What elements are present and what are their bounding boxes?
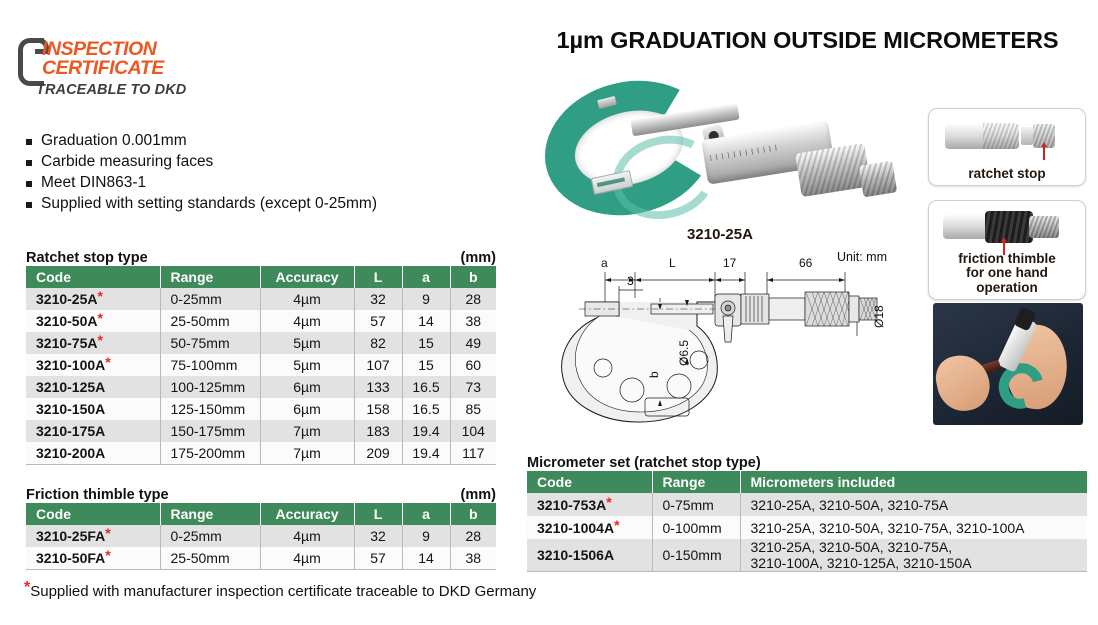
certificate-bracket-icon [18,38,44,86]
table-row: 3210-125A100-125mm6µm13316.573 [26,376,496,398]
asterisk-icon: * [98,310,103,326]
photo-one-hand-operation [933,303,1083,425]
friction-thimble-table-block: Friction thimble type (mm) CodeRangeAccu… [26,487,496,570]
cell-code: 3210-125A [26,376,160,398]
ratchet-table-unit: (mm) [461,250,496,266]
drawing-unit-label: Unit: mm [837,250,887,264]
cell-l: 183 [354,420,402,442]
cell-accuracy: 5µm [260,332,354,354]
cell-accuracy: 7µm [260,420,354,442]
table-body: 3210-25A*0-25mm4µm329283210-50A*25-50mm4… [26,288,496,464]
cell-accuracy: 4µm [260,288,354,310]
cell-range: 175-200mm [160,442,260,464]
asterisk-icon: * [105,525,110,541]
callout-friction-thimble: friction thimble for one hand operation [928,200,1086,300]
cell-range: 0-25mm [160,525,260,547]
cell-l: 57 [354,547,402,569]
dim-label-17: 17 [723,256,736,270]
micrometer-set-table: CodeRangeMicrometers included 3210-753A*… [527,471,1087,572]
cell-b: 85 [450,398,496,420]
cell-l: 107 [354,354,402,376]
cell-accuracy: 7µm [260,442,354,464]
asterisk-icon: * [105,354,110,370]
asterisk-icon: * [614,517,619,533]
dim-label-d18: Ø18 [872,305,886,328]
asterisk-icon: * [606,494,611,510]
callout-tail-cap [1029,216,1059,238]
table-body: 3210-25FA*0-25mm4µm329283210-50FA*25-50m… [26,525,496,569]
cell-b: 28 [450,525,496,547]
set-table-title: Micrometer set (ratchet stop type) [527,455,761,471]
list-item: Carbide measuring faces [26,153,456,172]
cell-b: 117 [450,442,496,464]
column-header-l: L [354,503,402,525]
callout-barrel [945,123,1019,149]
dim-label-b: b [647,371,661,378]
cell-code: 3210-175A [26,420,160,442]
cell-range: 0-100mm [652,516,740,539]
cell-a: 14 [402,310,450,332]
dim-label-66: 66 [799,256,812,270]
cell-b: 73 [450,376,496,398]
cell-b: 60 [450,354,496,376]
feature-text: Graduation 0.001mm [41,132,187,151]
ratchet-stop-table: CodeRangeAccuracyLab 3210-25A*0-25mm4µm3… [26,266,496,465]
column-header-code: Code [26,266,160,288]
column-header-l: L [354,266,402,288]
callout-knurl [983,123,1019,149]
cell-accuracy: 6µm [260,398,354,420]
cell-a: 14 [402,547,450,569]
cell-accuracy: 6µm [260,376,354,398]
column-header-range: Range [160,266,260,288]
cell-accuracy: 4µm [260,525,354,547]
list-item: Meet DIN863-1 [26,174,456,193]
table-row: 3210-25A*0-25mm4µm32928 [26,288,496,310]
table-caption: Micrometer set (ratchet stop type) [527,455,1087,471]
cell-code: 3210-753A* [527,493,652,516]
table-row: 3210-175A150-175mm7µm18319.4104 [26,420,496,442]
table-caption: Ratchet stop type (mm) [26,250,496,266]
cell-range: 125-150mm [160,398,260,420]
callout-tip [1021,127,1033,145]
square-bullet-icon [26,181,32,187]
list-item: Supplied with setting standards (except … [26,195,456,214]
cell-l: 158 [354,398,402,420]
cell-code: 3210-200A [26,442,160,464]
cell-code: 3210-25A* [26,288,160,310]
ratchet-table-title: Ratchet stop type [26,250,148,266]
table-row: 3210-200A175-200mm7µm20919.4117 [26,442,496,464]
table-header-row: CodeRangeMicrometers included [527,471,1087,493]
table-body: 3210-753A*0-75mm3210-25A, 3210-50A, 3210… [527,493,1087,572]
micrometer-scale [710,144,780,161]
cell-a: 15 [402,332,450,354]
column-header-code: Code [527,471,652,493]
cell-l: 133 [354,376,402,398]
square-bullet-icon [26,202,32,208]
cell-b: 104 [450,420,496,442]
cell-l: 32 [354,288,402,310]
callout-barrel [943,215,991,239]
drawing-svg [527,250,897,435]
technical-drawing: Unit: mm [527,250,897,435]
friction-thimble-table: CodeRangeAccuracyLab 3210-25FA*0-25mm4µm… [26,503,496,570]
feature-text: Meet DIN863-1 [41,174,146,193]
square-bullet-icon [26,160,32,166]
cell-a: 16.5 [402,398,450,420]
left-hand [933,350,994,416]
thimble-table-unit: (mm) [461,487,496,503]
cell-code: 3210-75A* [26,332,160,354]
callout-black-thimble [985,211,1033,243]
cell-range: 0-75mm [652,493,740,516]
column-header-range: Range [160,503,260,525]
cell-code: 3210-50FA* [26,547,160,569]
page-title: 1µm GRADUATION OUTSIDE MICROMETERS [520,27,1095,54]
product-photo-micrometer [536,70,926,220]
dim-label-a: a [601,256,608,270]
cell-l: 57 [354,310,402,332]
pointer-arrow-icon [1043,146,1045,160]
cell-code: 3210-50A* [26,310,160,332]
cell-a: 15 [402,354,450,376]
column-header-range: Range [652,471,740,493]
callout-ratchet-stop: ratchet stop [928,108,1086,186]
ratchet-stop-table-block: Ratchet stop type (mm) CodeRangeAccuracy… [26,250,496,465]
footnote-text: Supplied with manufacturer inspection ce… [30,583,536,600]
list-item: Graduation 0.001mm [26,132,456,151]
inspection-certificate-logo: INSPECTION CERTIFICATE TRACEABLE TO DKD [18,34,208,104]
dim-label-d65: Ø6.5 [677,340,691,366]
cell-range: 100-125mm [160,376,260,398]
cell-accuracy: 5µm [260,354,354,376]
cell-code: 3210-1506A [527,539,652,572]
cell-code: 3210-150A [26,398,160,420]
table-row: 3210-75A*50-75mm5µm821549 [26,332,496,354]
dim-label-3: 3 [627,274,634,288]
table-row: 3210-50FA*25-50mm4µm571438 [26,547,496,569]
hero-caption: 3210-25A [620,226,820,243]
cell-a: 9 [402,288,450,310]
column-header-a: a [402,266,450,288]
column-header-a: a [402,503,450,525]
ratchet-stop-photo [929,115,1085,157]
table-row: 3210-25FA*0-25mm4µm32928 [26,525,496,547]
cell-l: 32 [354,525,402,547]
square-bullet-icon [26,139,32,145]
callout-thimble-label: friction thimble for one hand operation [929,252,1085,296]
column-header-micrometers-included: Micrometers included [740,471,1087,493]
column-header-code: Code [26,503,160,525]
column-header-accuracy: Accuracy [260,503,354,525]
cell-included: 3210-25A, 3210-50A, 3210-75A, 3210-100A,… [740,539,1087,572]
table-header-row: CodeRangeAccuracyLab [26,503,496,525]
cell-included: 3210-25A, 3210-50A, 3210-75A [740,493,1087,516]
cell-range: 25-50mm [160,310,260,332]
cell-b: 38 [450,547,496,569]
cell-a: 19.4 [402,420,450,442]
certificate-traceable-text: TRACEABLE TO DKD [36,82,186,98]
cell-range: 50-75mm [160,332,260,354]
table-row: 3210-1004A*0-100mm3210-25A, 3210-50A, 32… [527,516,1087,539]
cell-included: 3210-25A, 3210-50A, 3210-75A, 3210-100A [740,516,1087,539]
cell-a: 19.4 [402,442,450,464]
column-header-b: b [450,503,496,525]
cell-l: 82 [354,332,402,354]
table-row: 3210-150A125-150mm6µm15816.585 [26,398,496,420]
cell-code: 3210-1004A* [527,516,652,539]
micrometer-ratchet-stop [859,161,898,198]
column-header-accuracy: Accuracy [260,266,354,288]
cell-b: 49 [450,332,496,354]
certificate-logo-line1: INSPECTION [42,40,156,59]
cell-range: 0-25mm [160,288,260,310]
feature-text: Carbide measuring faces [41,153,213,172]
thimble-table-title: Friction thimble type [26,487,169,503]
feature-text: Supplied with setting standards (except … [41,195,377,214]
cell-b: 38 [450,310,496,332]
table-row: 3210-100A*75-100mm5µm1071560 [26,354,496,376]
cell-a: 9 [402,525,450,547]
callout-ratchet-label: ratchet stop [929,167,1085,182]
cell-range: 0-150mm [652,539,740,572]
column-header-b: b [450,266,496,288]
cell-b: 28 [450,288,496,310]
micrometer-set-table-block: Micrometer set (ratchet stop type) CodeR… [527,455,1087,572]
table-row: 3210-1506A0-150mm3210-25A, 3210-50A, 321… [527,539,1087,572]
cell-range: 25-50mm [160,547,260,569]
micrometer-frame [531,63,728,232]
cell-l: 209 [354,442,402,464]
cell-range: 75-100mm [160,354,260,376]
cell-a: 16.5 [402,376,450,398]
asterisk-icon: * [98,332,103,348]
friction-thimble-photo [929,207,1085,249]
cell-code: 3210-100A* [26,354,160,376]
asterisk-icon: * [98,288,103,304]
table-header-row: CodeRangeAccuracyLab [26,266,496,288]
dim-label-L: L [669,256,676,270]
footnote: *Supplied with manufacturer inspection c… [24,583,536,600]
cell-code: 3210-25FA* [26,525,160,547]
asterisk-icon: * [105,547,110,563]
cell-range: 150-175mm [160,420,260,442]
cell-accuracy: 4µm [260,310,354,332]
feature-list: Graduation 0.001mm Carbide measuring fac… [26,132,456,216]
certificate-logo-line2: CERTIFICATE [42,59,164,78]
table-caption: Friction thimble type (mm) [26,487,496,503]
cell-accuracy: 4µm [260,547,354,569]
table-row: 3210-50A*25-50mm4µm571438 [26,310,496,332]
table-row: 3210-753A*0-75mm3210-25A, 3210-50A, 3210… [527,493,1087,516]
